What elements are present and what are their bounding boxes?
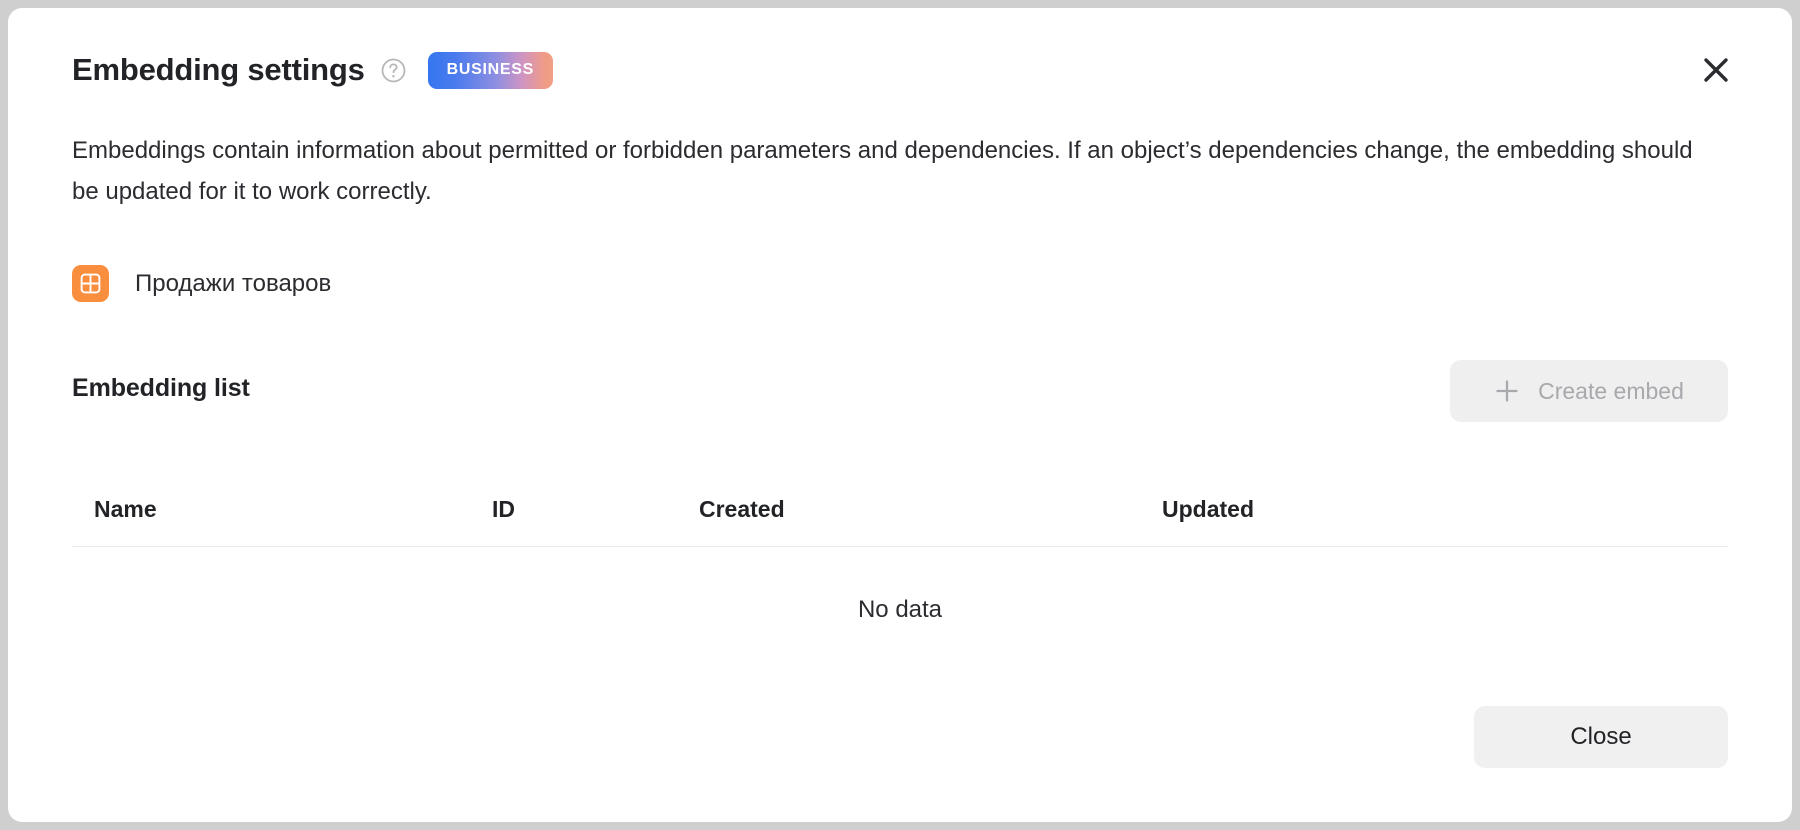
plus-icon [1494,378,1520,404]
table-divider [72,546,1728,547]
dialog-header: Embedding settings BUSINESS [72,46,1728,94]
column-header-created: Created [699,496,785,523]
dialog-description: Embeddings contain information about per… [72,130,1704,212]
object-item[interactable]: Продажи товаров [72,265,331,302]
embedding-settings-dialog: Embedding settings BUSINESS Embeddings c… [8,8,1792,822]
page-title: Embedding settings [72,52,365,88]
create-embed-button[interactable]: Create embed [1450,360,1728,422]
close-button[interactable]: Close [1474,706,1728,768]
empty-state-text: No data [72,596,1728,624]
question-circle-icon[interactable] [381,58,406,83]
embedding-list-title: Embedding list [72,374,250,403]
create-embed-label: Create embed [1538,378,1684,405]
embedding-table: Name ID Created Updated No data [72,474,1728,624]
column-header-name: Name [94,496,157,523]
plan-badge: BUSINESS [428,52,553,89]
table-header-row: Name ID Created Updated [72,474,1728,546]
table-grid-icon [72,265,109,302]
column-header-updated: Updated [1162,496,1254,523]
object-name-label: Продажи товаров [135,270,331,298]
close-icon[interactable] [1696,50,1736,90]
column-header-id: ID [492,496,515,523]
close-button-label: Close [1570,723,1631,751]
